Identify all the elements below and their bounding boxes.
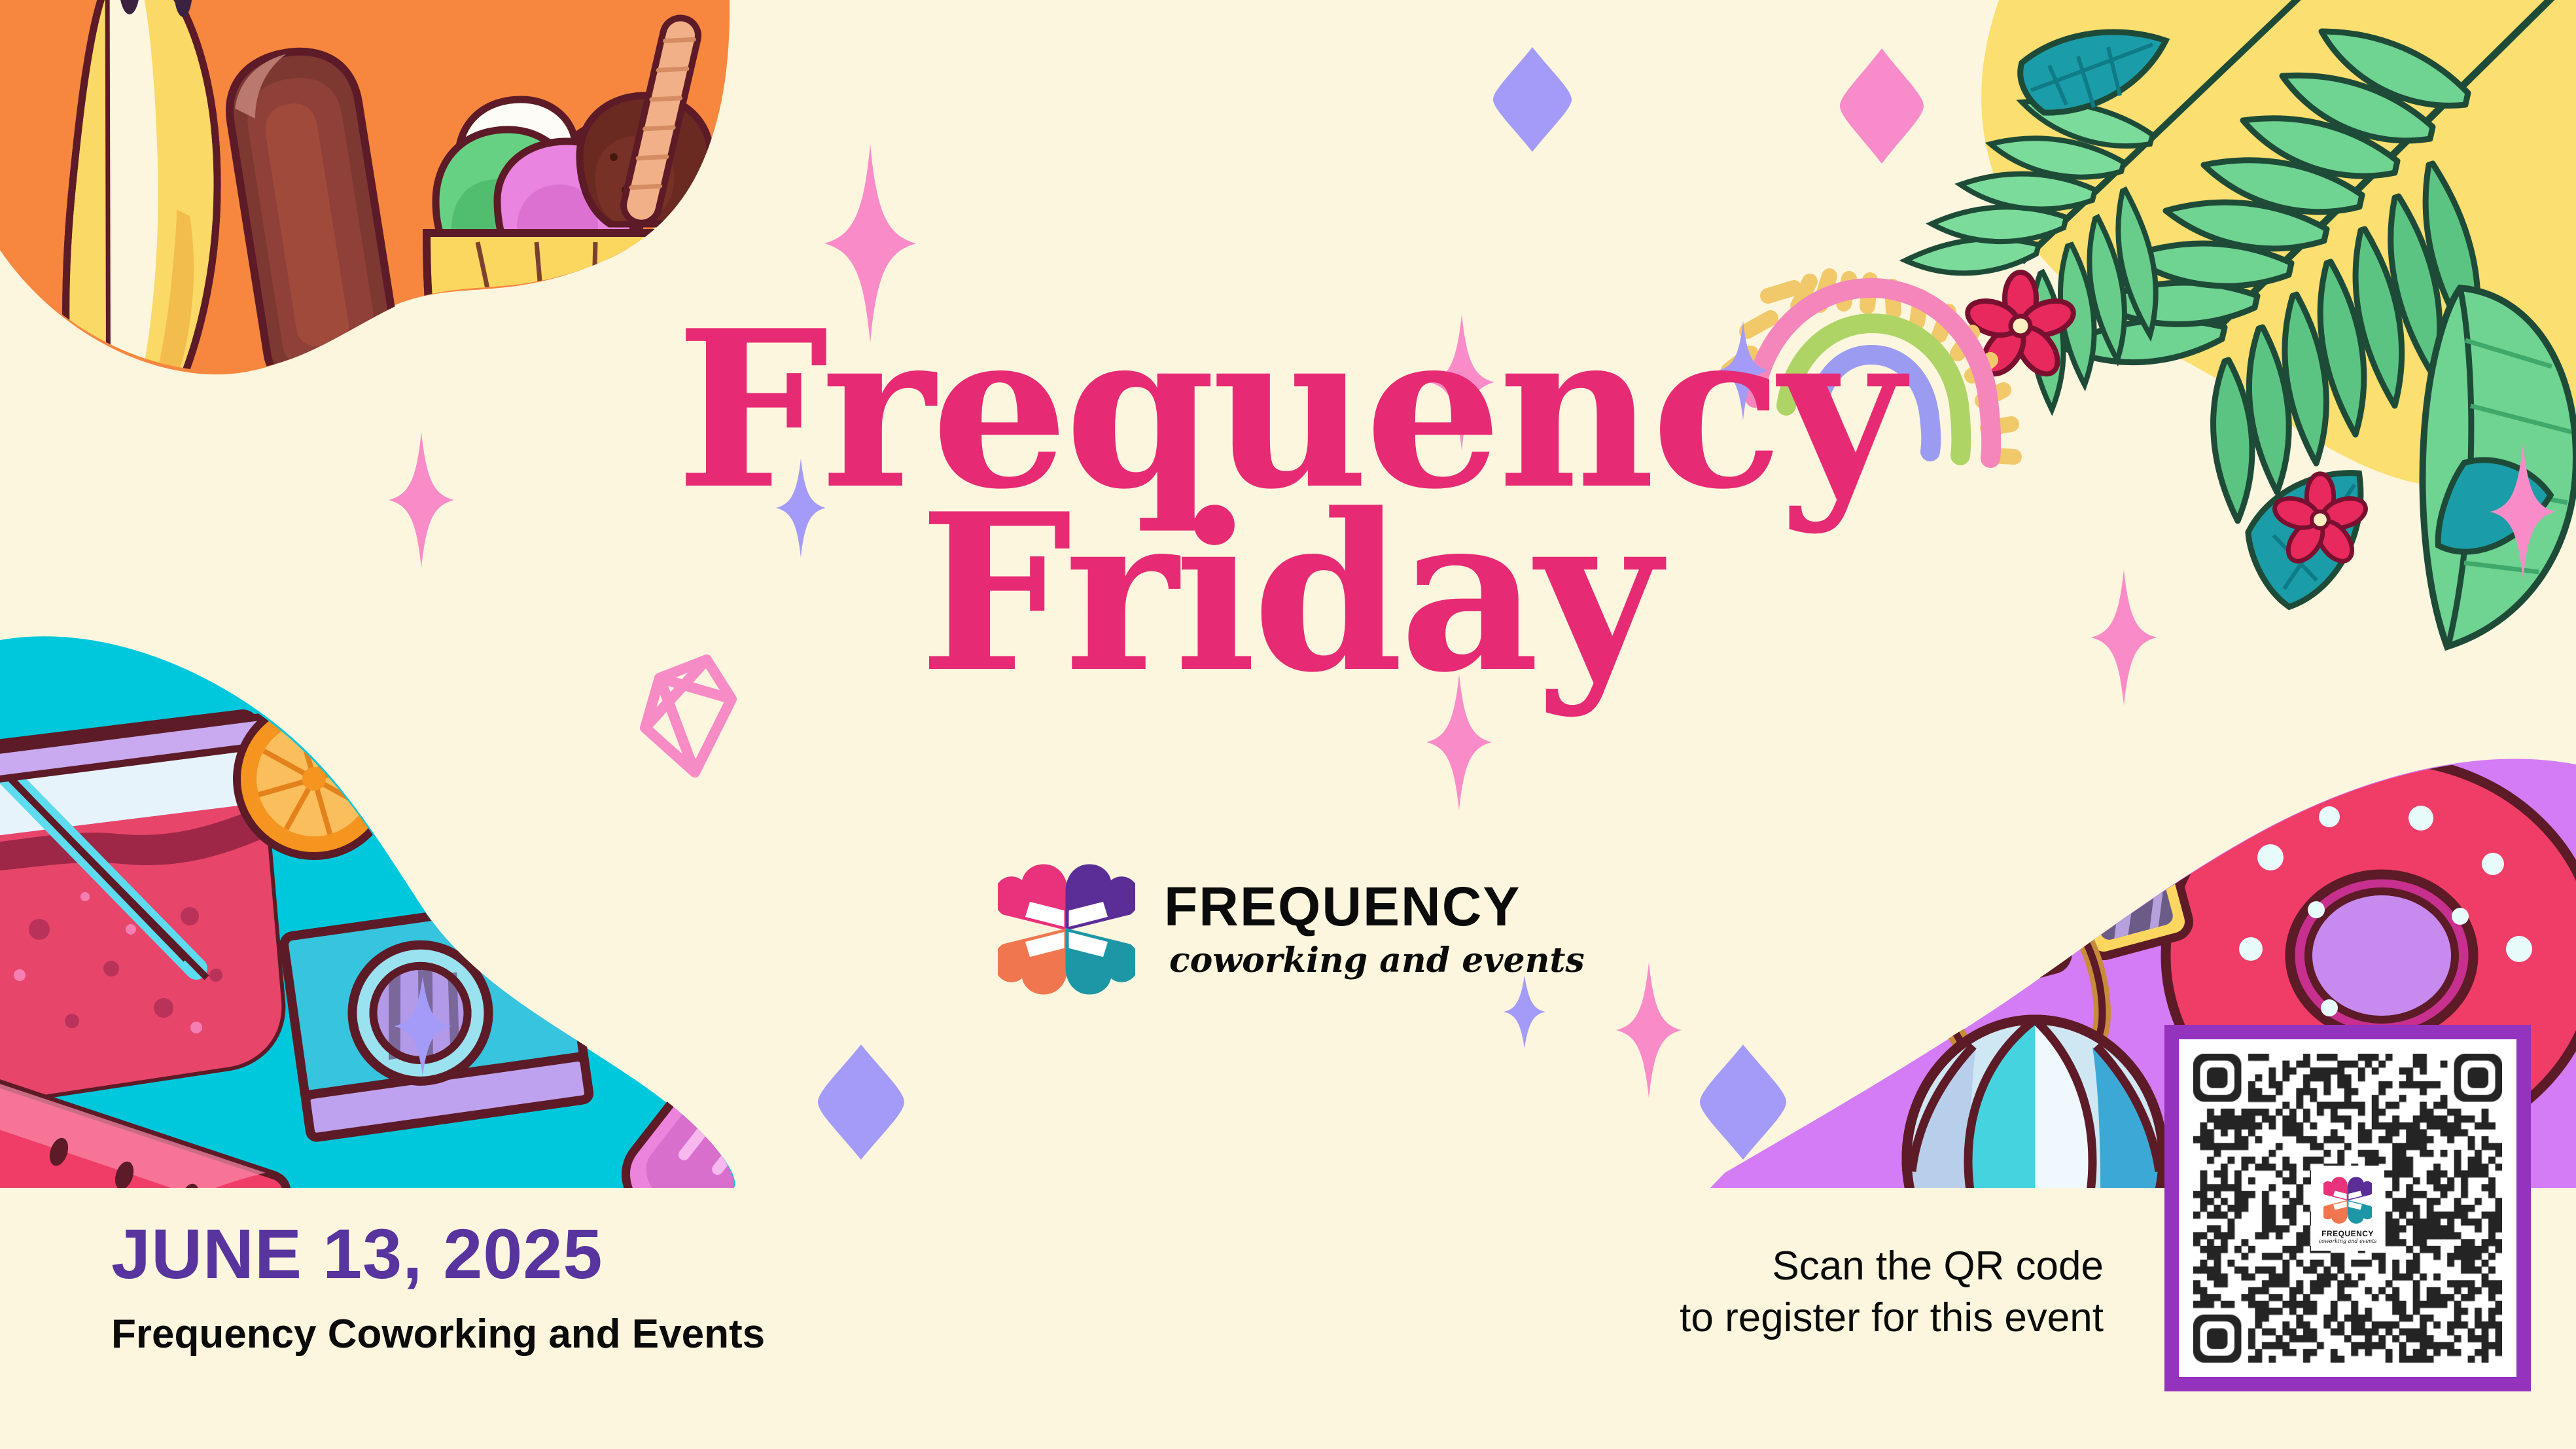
event-venue: Frequency Coworking and Events <box>111 1314 765 1355</box>
qr-logo-name: FREQUENCY <box>2321 1229 2374 1238</box>
brand-lockup: FREQUENCY coworking and events <box>998 851 1585 1008</box>
frequency-logo-icon <box>998 851 1135 1008</box>
qr-code-quiet-zone: FREQUENCY coworking and events <box>2179 1039 2516 1377</box>
brand-tagline: coworking and events <box>1169 940 1585 980</box>
event-details: JUNE 13, 2025 Frequency Coworking and Ev… <box>111 1219 765 1355</box>
qr-prompt-line-2: to register for this event <box>1680 1292 2104 1344</box>
event-date: JUNE 13, 2025 <box>111 1219 765 1289</box>
camera-icon <box>283 898 590 1138</box>
pink-gem-icon <box>645 660 732 772</box>
qr-code-block[interactable]: FREQUENCY coworking and events <box>2164 1025 2531 1391</box>
poster-canvas: Frequency Friday FREQUENCY coworking <box>0 0 2576 1449</box>
qr-prompt: Scan the QR code to register for this ev… <box>1680 1240 2104 1344</box>
brand-name: FREQUENCY <box>1164 879 1585 934</box>
qr-logo-tagline: coworking and events <box>2318 1238 2376 1244</box>
qr-prompt-line-1: Scan the QR code <box>1680 1240 2104 1292</box>
surfboard-icon <box>66 0 217 497</box>
frequency-logo-icon <box>2323 1173 2372 1228</box>
qr-center-logo: FREQUENCY coworking and events <box>2311 1166 2384 1251</box>
brand-wordmark: FREQUENCY coworking and events <box>1164 879 1585 980</box>
diamond-pink-icon <box>1840 48 1924 164</box>
